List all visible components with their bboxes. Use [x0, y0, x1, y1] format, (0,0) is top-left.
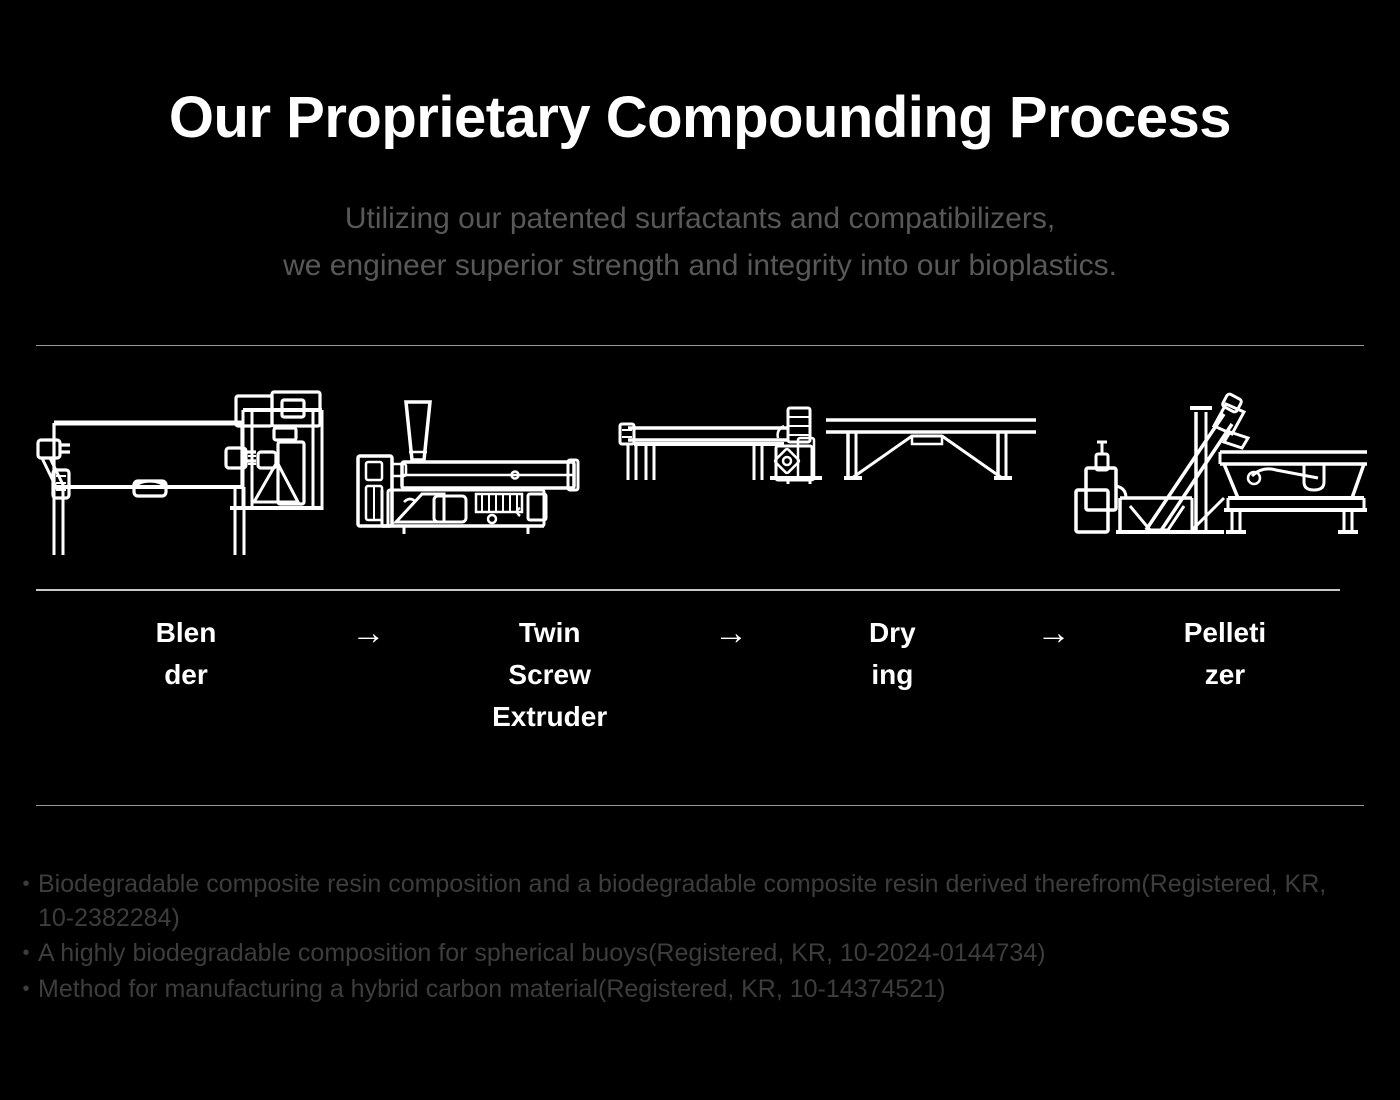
step-label-pelletizer-line-2: zer — [1160, 654, 1290, 696]
step-label-extruder-line-2: Screw — [475, 654, 625, 696]
bullet-icon: • — [14, 973, 38, 1005]
step-label-extruder-line-3: Extruder — [475, 696, 625, 738]
step-label-blender: Blen der — [110, 612, 262, 696]
step-label-blender-line-1: Blen — [110, 612, 262, 654]
patent-text: Method for manufacturing a hybrid carbon… — [38, 973, 1344, 1007]
list-item: • A highly biodegradable composition for… — [14, 937, 1344, 971]
divider-bottom — [36, 805, 1364, 806]
slide-root: Our Proprietary Compounding Process Util… — [0, 0, 1400, 1100]
list-item: • Method for manufacturing a hybrid carb… — [14, 973, 1344, 1007]
step-label-extruder-line-1: Twin — [475, 612, 625, 654]
drying-conveyor-machine-icon — [612, 390, 1062, 590]
twin-screw-extruder-machine-icon — [352, 390, 597, 590]
list-item: • Biodegradable composite resin composit… — [14, 868, 1344, 935]
patent-text: Biodegradable composite resin compositio… — [38, 868, 1344, 935]
bullet-icon: • — [14, 937, 38, 969]
arrow-right-icon-2: → — [701, 612, 761, 655]
page-title: Our Proprietary Compounding Process — [0, 88, 1400, 149]
page-subtitle: Utilizing our patented surfactants and c… — [0, 196, 1400, 289]
step-label-drying-line-1: Dry — [837, 612, 947, 654]
patent-text: A highly biodegradable composition for s… — [38, 937, 1344, 971]
subtitle-line-2: we engineer superior strength and integr… — [0, 243, 1400, 290]
arrow-right-icon-1: → — [338, 612, 398, 655]
step-label-blender-line-2: der — [110, 654, 262, 696]
step-label-twin-screw-extruder: Twin Screw Extruder — [475, 612, 625, 738]
step-label-drying-line-2: ing — [837, 654, 947, 696]
step-label-pelletizer-line-1: Pelleti — [1160, 612, 1290, 654]
subtitle-line-1: Utilizing our patented surfactants and c… — [0, 196, 1400, 243]
pelletizer-machine-icon — [1072, 390, 1367, 590]
step-label-drying: Dry ing — [837, 612, 947, 696]
bullet-icon: • — [14, 868, 38, 900]
process-diagram — [0, 390, 1400, 600]
arrow-right-icon-3: → — [1024, 612, 1084, 655]
divider-top — [36, 345, 1364, 346]
process-steps: Blen der → Twin Screw Extruder → Dry ing… — [36, 612, 1364, 738]
ribbon-blender-machine-icon — [30, 390, 340, 590]
patent-list: • Biodegradable composite resin composit… — [14, 868, 1344, 1008]
step-label-pelletizer: Pelleti zer — [1160, 612, 1290, 696]
